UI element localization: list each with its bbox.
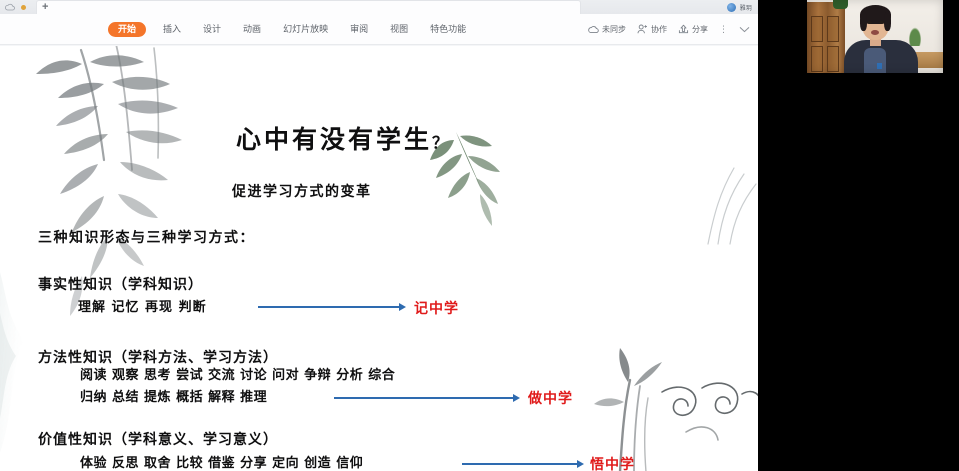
section-words-method-1: 阅读 观察 思考 尝试 交流 讨论 问对 争辩 分析 综合 [80,364,395,383]
section-heading-factual: 事实性知识（学科知识） [38,274,203,294]
user-name-label: 雅玥 [740,3,752,12]
presentation-app-window: + 雅玥 开始 插入 设计 动画 幻灯片放映 审阅 视图 特色功能 [0,0,758,471]
tab-design[interactable]: 设计 [198,22,226,37]
presenter-webcam-feed[interactable] [807,0,943,73]
arrow-shaft [462,463,578,465]
titlebar-right-group: 雅玥 [727,3,758,12]
sync-status-button[interactable]: 未同步 [588,24,626,35]
share-button[interactable]: 分享 [678,24,708,35]
tab-insert[interactable]: 插入 [158,22,186,37]
collaborate-button[interactable]: 协作 [637,24,667,35]
ink-bamboo-painting [0,46,236,370]
cloud-sync-icon[interactable] [4,2,15,13]
section-words-value: 体验 反思 取舍 比较 借鉴 分享 定向 创造 信仰 [80,452,363,471]
slide-intro-line: 三种知识形态与三种学习方式： [38,227,255,247]
sync-status-label: 未同步 [602,24,626,35]
record-dot-icon [21,5,26,10]
arrow-head [577,460,584,468]
avatar[interactable] [727,3,736,12]
section-words-factual: 理解 记忆 再现 判断 [78,296,207,315]
ribbon-action-group: 未同步 协作 [588,24,758,35]
ink-reed-painting [590,346,758,471]
share-label: 分享 [692,24,708,35]
slide-title-question-mark: ？ [432,133,448,152]
tab-start[interactable]: 开始 [108,22,146,37]
section-heading-value: 价值性知识（学科意义、学习意义） [38,429,278,449]
slide-subtitle: 促进学习方式的变革 [232,181,372,201]
ribbon-bar: 开始 插入 设计 动画 幻灯片放映 审阅 视图 特色功能 未同步 [0,14,758,45]
video-side-panel [758,0,959,471]
tab-animation[interactable]: 动画 [238,22,266,37]
share-icon [678,24,689,34]
ribbon-tab-list: 开始 插入 设计 动画 幻灯片放映 审阅 视图 特色功能 [108,22,471,37]
title-bar: + 雅玥 [0,0,758,14]
document-tab[interactable]: + [36,0,581,14]
ink-grass-sketch [700,156,758,246]
tab-view[interactable]: 视图 [385,22,413,37]
arrow-right-icon-method [334,394,520,402]
cloud-icon [588,25,599,34]
page-title: 心中有没有学生？ [236,120,448,156]
result-label-method: 做中学 [528,388,573,408]
collaborate-label: 协作 [651,24,667,35]
tab-special-features[interactable]: 特色功能 [425,22,471,37]
chevron-down-icon[interactable] [739,26,750,33]
collaborate-person-icon [637,24,648,34]
tab-slideshow[interactable]: 幻灯片放映 [278,22,333,37]
arrow-head [513,394,520,402]
arrow-right-icon-factual [258,303,406,311]
result-label-factual: 记中学 [414,298,459,318]
result-label-value: 悟中学 [590,454,635,471]
arrow-shaft [334,397,514,399]
arrow-shaft [258,306,400,308]
slide-title-text: 心中有没有学生 [236,125,432,154]
slide-canvas[interactable]: 心中有没有学生？ 促进学习方式的变革 三种知识形态与三种学习方式： 事实性知识（… [0,46,758,471]
section-words-method-2: 归纳 总结 提炼 概括 解释 推理 [80,386,267,405]
new-tab-button[interactable]: + [42,2,48,13]
more-options-button[interactable]: ⋮ [719,25,728,34]
arrow-right-icon-value [462,460,584,468]
screen-share-view: + 雅玥 开始 插入 设计 动画 幻灯片放映 审阅 视图 特色功能 [0,0,959,471]
arrow-head [399,303,406,311]
tab-review[interactable]: 审阅 [345,22,373,37]
webcam-vignette [807,0,943,73]
